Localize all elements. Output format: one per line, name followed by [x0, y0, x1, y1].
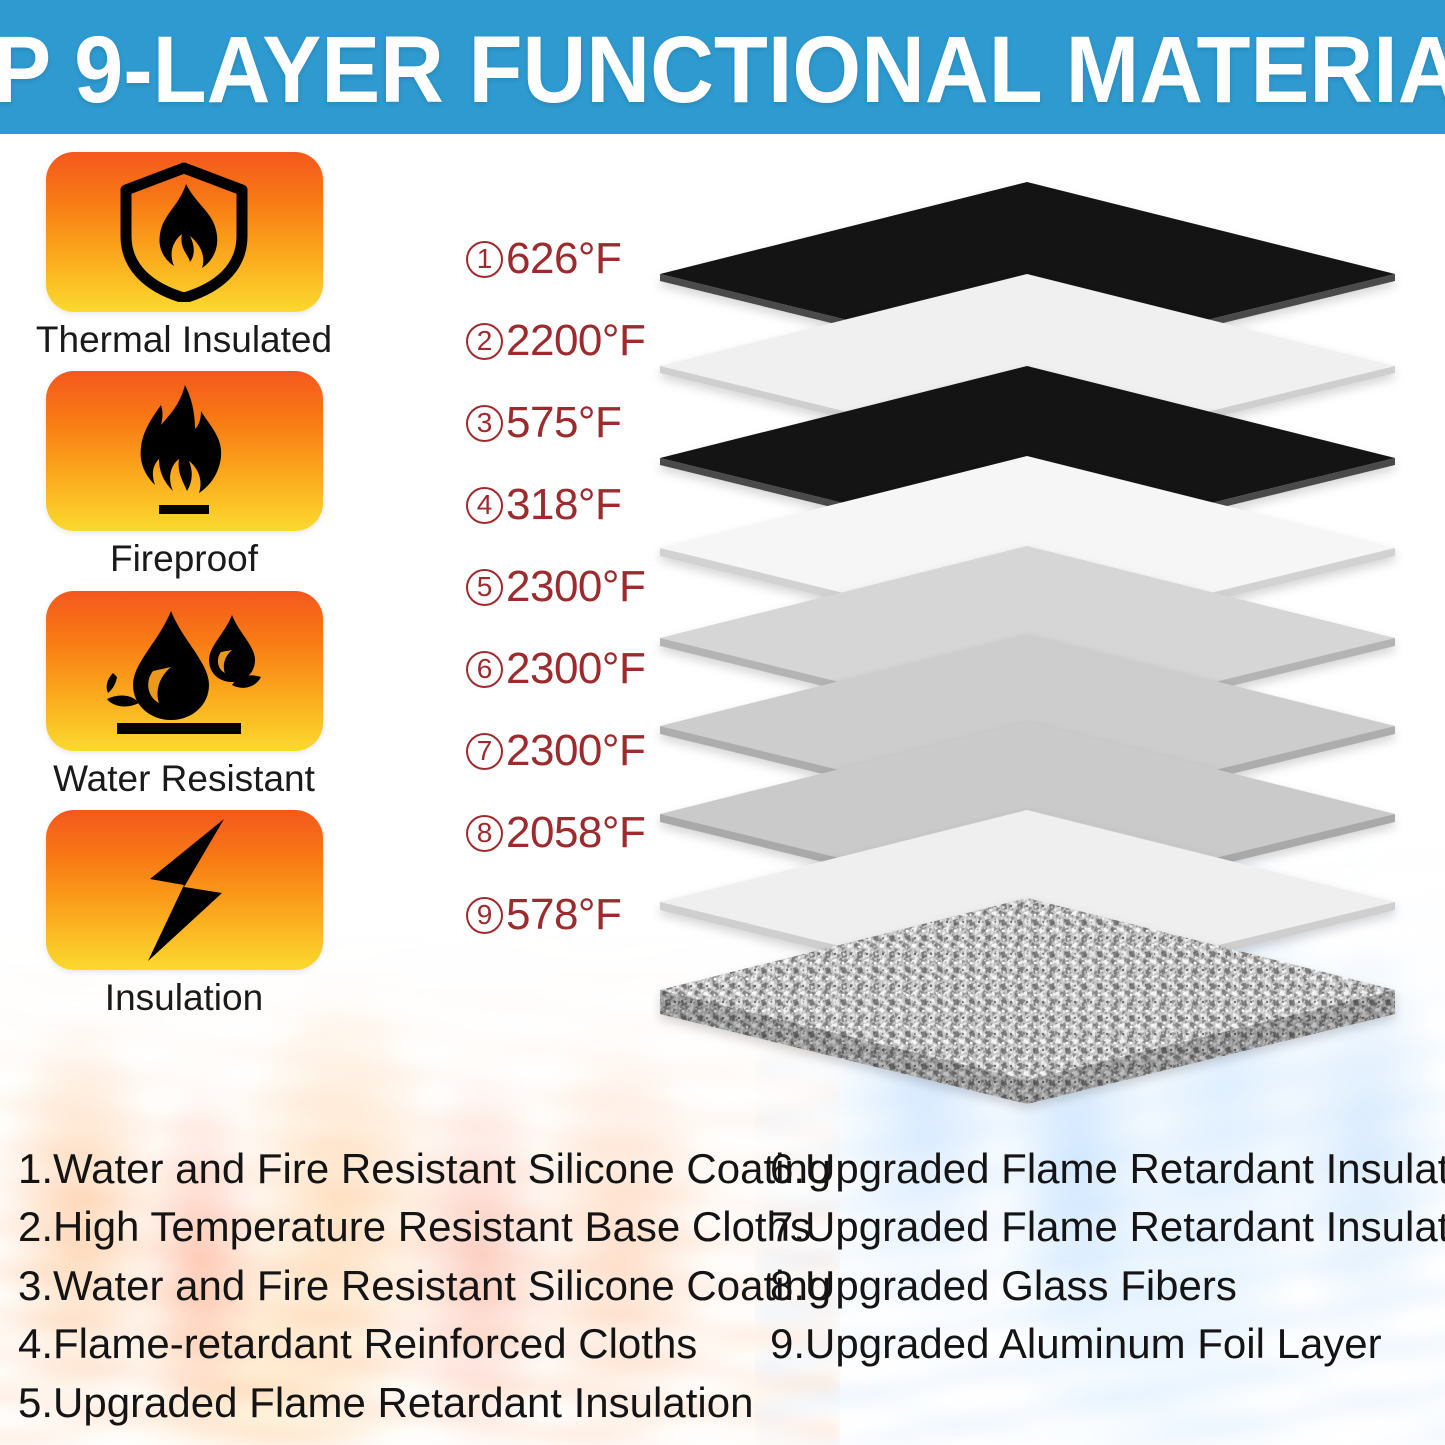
description-item: 7.Upgraded Flame Retardant Insulation — [770, 1198, 1445, 1256]
layer-temperature-value: 2300°F — [506, 726, 645, 776]
shield-flame-icon — [116, 162, 252, 302]
layer-temperature-value: 578°F — [506, 890, 621, 940]
layer-temperature-value: 318°F — [506, 480, 621, 530]
description-item: 9.Upgraded Aluminum Foil Layer — [770, 1315, 1445, 1373]
page-title: TOP 9-LAYER FUNCTIONAL MATERIALS — [0, 17, 1445, 118]
layer-number-badge: 7 — [466, 733, 503, 770]
layer-temperature-item: 1 626°F — [466, 218, 681, 300]
layer-temperature-value: 2300°F — [506, 562, 645, 612]
feature-label: Thermal Insulated — [24, 317, 344, 363]
layer-temperature-item: 9 578°F — [466, 874, 681, 956]
layer-number-badge: 9 — [466, 897, 503, 934]
feature-icon-card — [46, 810, 323, 970]
feature-insulation: Insulation — [24, 810, 344, 1021]
layer-sheet-9 — [655, 894, 1400, 1109]
layer-number-badge: 2 — [466, 323, 503, 360]
layer-temperature-item: 6 2300°F — [466, 628, 681, 710]
layer-number-badge: 5 — [466, 569, 503, 606]
feature-icon-card — [46, 152, 323, 312]
layer-temperature-item: 3 575°F — [466, 382, 681, 464]
layer-number-badge: 6 — [466, 651, 503, 688]
feature-icon-card — [46, 591, 323, 751]
description-item: 5.Upgraded Flame Retardant Insulation — [18, 1374, 831, 1432]
feature-water-resistant: Water Resistant — [24, 591, 344, 802]
header-banner: TOP 9-LAYER FUNCTIONAL MATERIALS — [0, 0, 1445, 134]
layer-temperature-list: 1 626°F 2 2200°F 3 575°F 4 318°F 5 2300°… — [466, 218, 681, 956]
layer-temperature-value: 575°F — [506, 398, 621, 448]
feature-icon-column: Thermal Insulated Fireproof — [24, 152, 344, 1029]
water-drop-icon — [89, 605, 279, 737]
flame-icon — [123, 381, 245, 521]
layer-temperature-item: 2 2200°F — [466, 300, 681, 382]
layer-temperature-value: 626°F — [506, 234, 621, 284]
description-item: 6.Upgraded Flame Retardant Insulation — [770, 1140, 1445, 1198]
description-item: 1.Water and Fire Resistant Silicone Coat… — [18, 1140, 831, 1198]
layer-description-lists: 1.Water and Fire Resistant Silicone Coat… — [0, 1140, 1445, 1440]
layer-stack-diagram — [655, 178, 1415, 1008]
feature-icon-card — [46, 371, 323, 531]
infographic-canvas: TOP 9-LAYER FUNCTIONAL MATERIALS Thermal… — [0, 0, 1445, 1445]
layer-number-badge: 3 — [466, 405, 503, 442]
layer-number-badge: 4 — [466, 487, 503, 524]
description-item: 8.Upgraded Glass Fibers — [770, 1257, 1445, 1315]
feature-fireproof: Fireproof — [24, 371, 344, 582]
description-column-left: 1.Water and Fire Resistant Silicone Coat… — [18, 1140, 831, 1432]
lightning-bolt-icon — [126, 817, 242, 963]
feature-label: Insulation — [24, 975, 344, 1021]
description-item: 2.High Temperature Resistant Base Cloths — [18, 1198, 831, 1256]
layer-temperature-item: 8 2058°F — [466, 792, 681, 874]
layer-temperature-item: 7 2300°F — [466, 710, 681, 792]
layer-temperature-item: 5 2300°F — [466, 546, 681, 628]
description-item: 3.Water and Fire Resistant Silicone Coat… — [18, 1257, 831, 1315]
feature-label: Fireproof — [24, 536, 344, 582]
description-item: 4.Flame-retardant Reinforced Cloths — [18, 1315, 831, 1373]
feature-label: Water Resistant — [24, 756, 344, 802]
layer-temperature-value: 2300°F — [506, 644, 645, 694]
feature-thermal-insulated: Thermal Insulated — [24, 152, 344, 363]
layer-number-badge: 8 — [466, 815, 503, 852]
description-column-right: 6.Upgraded Flame Retardant Insulation 7.… — [770, 1140, 1445, 1374]
layer-temperature-value: 2058°F — [506, 808, 645, 858]
layer-temperature-value: 2200°F — [506, 316, 645, 366]
layer-number-badge: 1 — [466, 241, 503, 278]
layer-temperature-item: 4 318°F — [466, 464, 681, 546]
